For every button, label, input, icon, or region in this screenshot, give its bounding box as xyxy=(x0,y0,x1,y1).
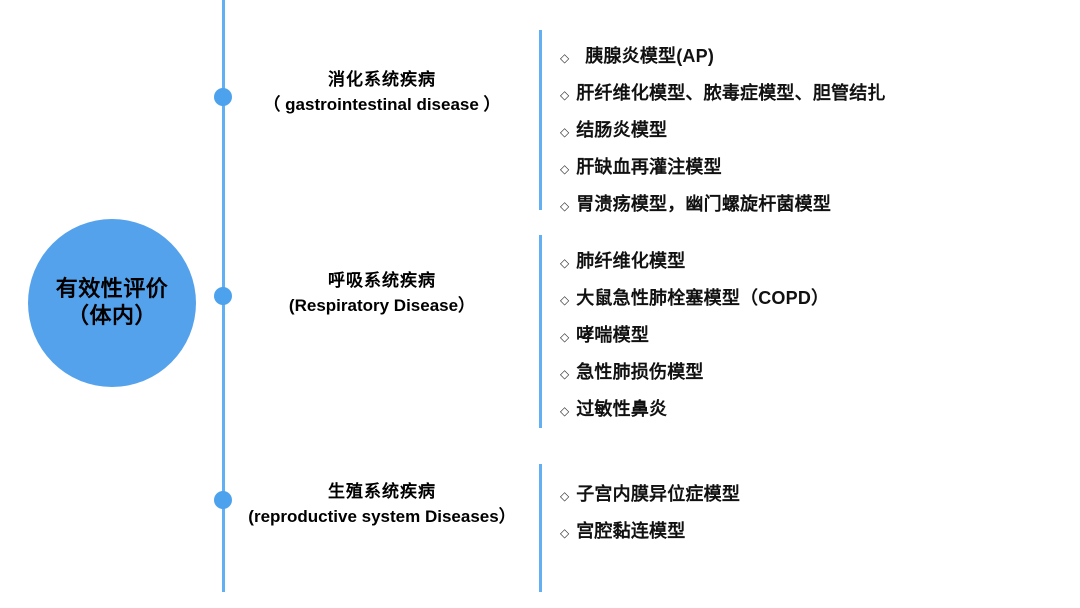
category-label-2-en: (Respiratory Disease） xyxy=(232,294,532,319)
list-item-label: 肝纤维化模型、脓毒症模型、胆管结扎 xyxy=(576,79,885,105)
hub-title-cn: 有效性评价 xyxy=(56,276,169,303)
category-label-1-en: （ gastrointestinal disease ） xyxy=(232,93,532,118)
list-item[interactable]: ◇ 哮喘模型 xyxy=(560,321,1060,347)
diamond-bullet-icon: ◇ xyxy=(560,88,569,102)
diamond-bullet-icon: ◇ xyxy=(560,404,569,418)
list-item-label: 大鼠急性肺栓塞模型（COPD） xyxy=(576,284,829,310)
diamond-bullet-icon: ◇ xyxy=(560,256,569,270)
hub-circle[interactable]: 有效性评价 （体内） xyxy=(28,219,196,387)
diamond-bullet-icon: ◇ xyxy=(560,367,569,381)
diamond-bullet-icon: ◇ xyxy=(560,162,569,176)
node-dot-1[interactable] xyxy=(214,88,232,106)
diamond-bullet-icon: ◇ xyxy=(560,526,569,540)
list-item[interactable]: ◇ 胰腺炎模型(AP) xyxy=(560,42,1060,68)
list-item[interactable]: ◇ 结肠炎模型 xyxy=(560,116,1060,142)
list-item-label: 肝缺血再灌注模型 xyxy=(576,153,722,179)
item-list-2: ◇ 肺纤维化模型 ◇ 大鼠急性肺栓塞模型（COPD） ◇ 哮喘模型 ◇ 急性肺损… xyxy=(560,247,1060,432)
list-item-label: 过敏性鼻炎 xyxy=(576,395,667,421)
list-item-label: 肺纤维化模型 xyxy=(576,247,685,273)
category-label-3[interactable]: 生殖系统疾病 (reproductive system Diseases） xyxy=(222,479,542,529)
rail-right-segment-1 xyxy=(539,30,542,210)
category-label-2-cn: 呼吸系统疾病 xyxy=(232,268,532,294)
category-label-1-cn: 消化系统疾病 xyxy=(232,67,532,93)
category-label-3-en: (reproductive system Diseases） xyxy=(222,505,542,530)
list-item[interactable]: ◇ 肝缺血再灌注模型 xyxy=(560,153,1060,179)
list-item-label: 宫腔黏连模型 xyxy=(576,517,685,543)
list-item-label: 胰腺炎模型(AP) xyxy=(576,42,714,68)
diamond-bullet-icon: ◇ xyxy=(560,489,569,503)
list-item-label: 急性肺损伤模型 xyxy=(576,358,703,384)
category-label-3-cn: 生殖系统疾病 xyxy=(222,479,542,505)
list-item[interactable]: ◇ 过敏性鼻炎 xyxy=(560,395,1060,421)
list-item-label: 子宫内膜异位症模型 xyxy=(576,480,740,506)
list-item[interactable]: ◇ 大鼠急性肺栓塞模型（COPD） xyxy=(560,284,1060,310)
node-dot-2[interactable] xyxy=(214,287,232,305)
diamond-bullet-icon: ◇ xyxy=(560,125,569,139)
category-label-1[interactable]: 消化系统疾病 （ gastrointestinal disease ） xyxy=(232,67,532,117)
list-item[interactable]: ◇ 急性肺损伤模型 xyxy=(560,358,1060,384)
category-label-2[interactable]: 呼吸系统疾病 (Respiratory Disease） xyxy=(232,268,532,318)
list-item[interactable]: ◇ 子宫内膜异位症模型 xyxy=(560,480,1060,506)
diamond-bullet-icon: ◇ xyxy=(560,293,569,307)
rail-right-segment-2 xyxy=(539,235,542,428)
diagram-canvas: 有效性评价 （体内） 消化系统疾病 （ gastrointestinal dis… xyxy=(0,0,1080,608)
list-item-label: 哮喘模型 xyxy=(576,321,649,347)
list-item-label: 胃溃疡模型，幽门螺旋杆菌模型 xyxy=(576,190,831,216)
diamond-bullet-icon: ◇ xyxy=(560,199,569,213)
diamond-bullet-icon: ◇ xyxy=(560,51,569,65)
list-item-label: 结肠炎模型 xyxy=(576,116,667,142)
item-list-3: ◇ 子宫内膜异位症模型 ◇ 宫腔黏连模型 xyxy=(560,480,1060,554)
list-item[interactable]: ◇ 肝纤维化模型、脓毒症模型、胆管结扎 xyxy=(560,79,1060,105)
list-item[interactable]: ◇ 胃溃疡模型，幽门螺旋杆菌模型 xyxy=(560,190,1060,216)
hub-title-paren: （体内） xyxy=(67,303,157,330)
list-item[interactable]: ◇ 肺纤维化模型 xyxy=(560,247,1060,273)
diamond-bullet-icon: ◇ xyxy=(560,330,569,344)
item-list-1: ◇ 胰腺炎模型(AP) ◇ 肝纤维化模型、脓毒症模型、胆管结扎 ◇ 结肠炎模型 … xyxy=(560,42,1060,227)
list-item[interactable]: ◇ 宫腔黏连模型 xyxy=(560,517,1060,543)
